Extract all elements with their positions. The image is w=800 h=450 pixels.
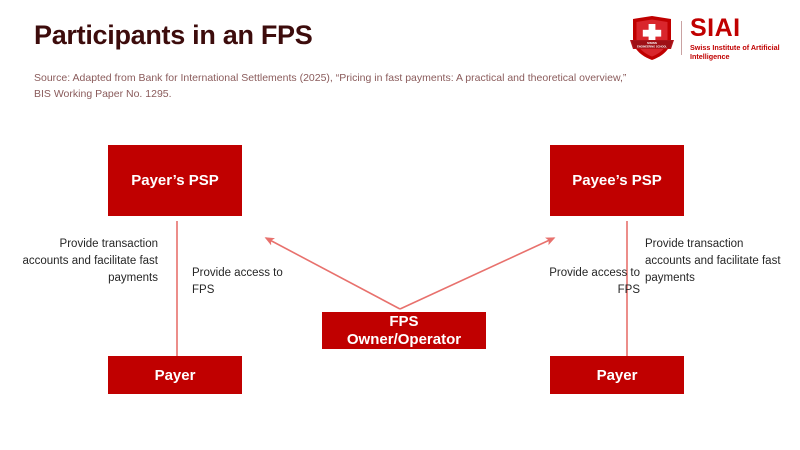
- annotation-left-inner: Provide access to FPS: [192, 265, 302, 299]
- annotation-right-outer: Provide transaction accounts and facilit…: [645, 236, 790, 287]
- node-payer-left[interactable]: Payer: [108, 356, 242, 394]
- node-payer-right[interactable]: Payer: [550, 356, 684, 394]
- annotation-left-outer: Provide transaction accounts and facilit…: [18, 236, 158, 287]
- node-payer-left-label: Payer: [155, 366, 196, 385]
- source-note: Source: Adapted from Bank for Internatio…: [34, 70, 634, 102]
- swiss-shield-icon: SWISS ENGINEERING SCHOOL: [630, 15, 674, 61]
- logo-tagline: Swiss Institute of Artificial Intelligen…: [690, 43, 782, 61]
- node-fps-owner-operator-label: FPS Owner/Operator: [347, 313, 461, 349]
- page-title: Participants in an FPS: [34, 20, 312, 51]
- node-payer-psp-label: Payer’s PSP: [131, 171, 219, 190]
- node-payee-psp-label: Payee’s PSP: [572, 171, 662, 190]
- node-payer-right-label: Payer: [597, 366, 638, 385]
- logo-divider: [681, 21, 682, 55]
- node-payee-psp[interactable]: Payee’s PSP: [550, 145, 684, 216]
- siai-logo: SWISS ENGINEERING SCHOOL SIAI Swiss Inst…: [630, 14, 782, 62]
- annotation-right-inner: Provide access to FPS: [530, 265, 640, 299]
- logo-text: SIAI Swiss Institute of Artificial Intel…: [690, 16, 782, 61]
- svg-text:ENGINEERING SCHOOL: ENGINEERING SCHOOL: [637, 44, 667, 48]
- logo-wordmark: SIAI: [690, 16, 782, 41]
- node-payer-psp[interactable]: Payer’s PSP: [108, 145, 242, 216]
- slide-canvas: Participants in an FPS Source: Adapted f…: [0, 0, 800, 450]
- node-fps-owner-operator[interactable]: FPS Owner/Operator: [322, 312, 486, 349]
